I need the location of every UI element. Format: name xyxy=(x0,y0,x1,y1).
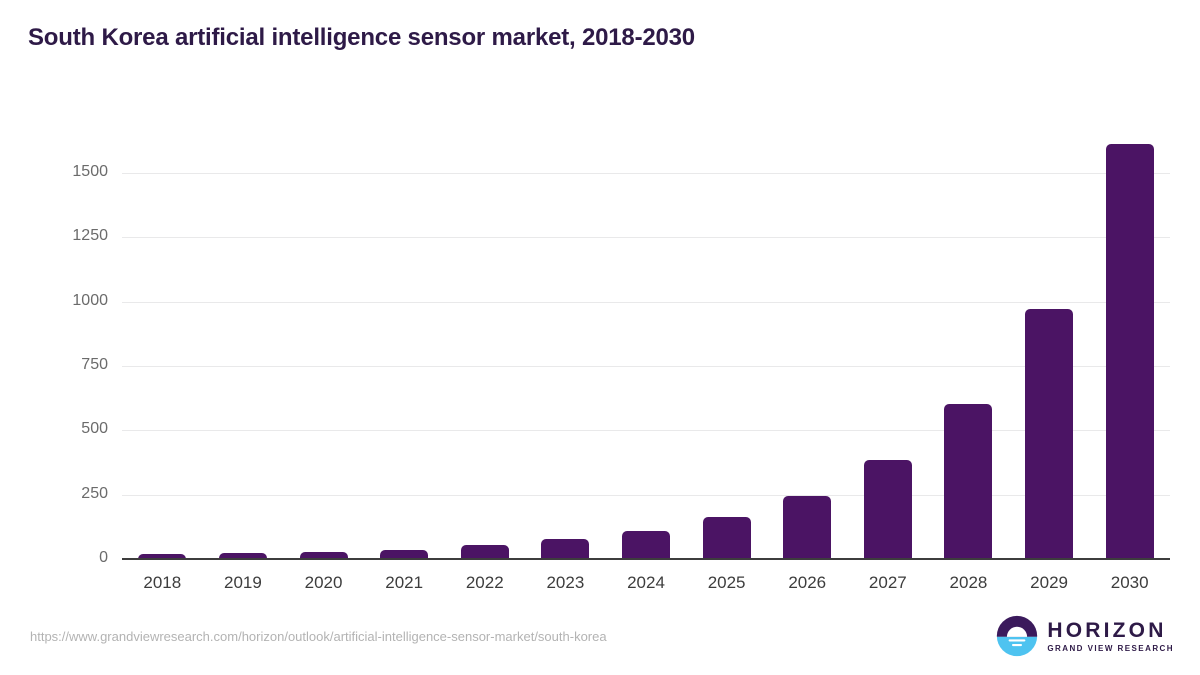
gridline xyxy=(122,302,1170,303)
horizon-sun-circle-icon xyxy=(996,615,1038,657)
x-axis-line xyxy=(122,558,1170,560)
y-axis-tick-label: 1250 xyxy=(0,227,108,245)
x-axis-tick-label: 2023 xyxy=(525,573,606,593)
bar[interactable] xyxy=(541,539,589,559)
gridline xyxy=(122,366,1170,367)
logo-tagline: GRAND VIEW RESEARCH xyxy=(1047,645,1174,653)
x-axis-tick-label: 2020 xyxy=(283,573,364,593)
x-axis-tick-label: 2029 xyxy=(1009,573,1090,593)
y-axis-tick-label: 0 xyxy=(0,549,108,567)
gridline xyxy=(122,173,1170,174)
y-axis-tick-label: 500 xyxy=(0,420,108,438)
x-axis-tick-label: 2022 xyxy=(444,573,525,593)
x-axis-tick-label: 2018 xyxy=(122,573,203,593)
bar[interactable] xyxy=(1025,309,1073,559)
x-axis-tick-label: 2028 xyxy=(928,573,1009,593)
bar[interactable] xyxy=(783,496,831,559)
bar[interactable] xyxy=(944,404,992,559)
bar[interactable] xyxy=(703,517,751,559)
bar[interactable] xyxy=(622,531,670,559)
plot-area xyxy=(122,141,1170,559)
chart-figure: South Korea artificial intelligence sens… xyxy=(0,0,1200,675)
gridline xyxy=(122,237,1170,238)
x-axis-tick-label: 2024 xyxy=(606,573,687,593)
x-axis-tick-label: 2030 xyxy=(1089,573,1170,593)
gridline xyxy=(122,430,1170,431)
bar[interactable] xyxy=(461,545,509,559)
logo-text: HORIZON GRAND VIEW RESEARCH xyxy=(1047,620,1174,653)
page-title: South Korea artificial intelligence sens… xyxy=(28,24,695,52)
y-axis-tick-label: 1500 xyxy=(0,163,108,181)
gridline xyxy=(122,495,1170,496)
logo-wordmark: HORIZON xyxy=(1047,620,1174,641)
x-axis-tick-label: 2019 xyxy=(203,573,284,593)
x-axis-tick-label: 2026 xyxy=(767,573,848,593)
y-axis-tick-label: 750 xyxy=(0,356,108,374)
brand-logo: HORIZON GRAND VIEW RESEARCH xyxy=(996,614,1174,658)
source-url[interactable]: https://www.grandviewresearch.com/horizo… xyxy=(30,629,607,644)
x-axis-tick-label: 2027 xyxy=(848,573,929,593)
bar[interactable] xyxy=(864,460,912,559)
bar[interactable] xyxy=(1106,144,1154,559)
x-axis-tick-label: 2025 xyxy=(686,573,767,593)
y-axis-tick-label: 250 xyxy=(0,485,108,503)
y-axis-tick-label: 1000 xyxy=(0,292,108,310)
x-axis-tick-label: 2021 xyxy=(364,573,445,593)
